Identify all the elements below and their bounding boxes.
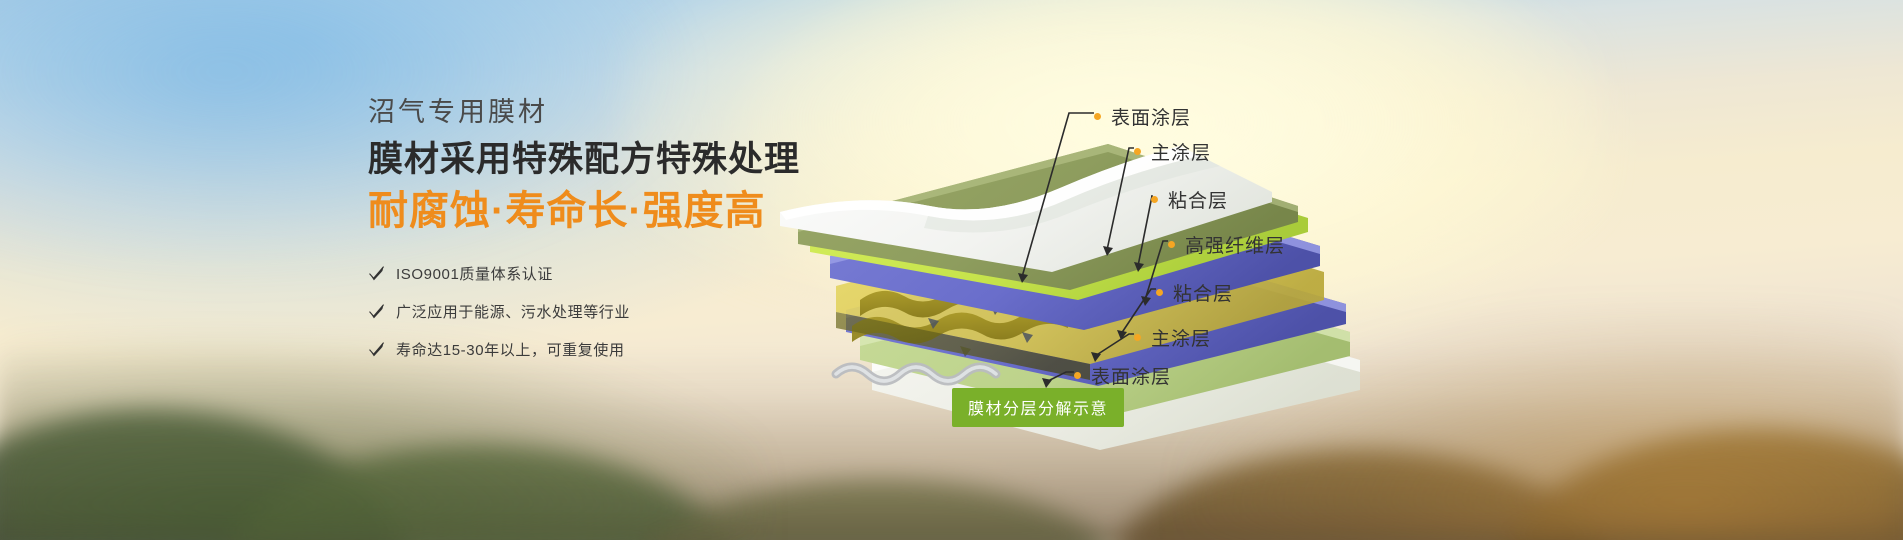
dot-icon — [1134, 148, 1141, 155]
callout-label: 粘合层 — [1173, 279, 1233, 306]
callout-main-coat-top: 主涂层 — [1134, 138, 1211, 165]
callout-fiber-core: 高强纤维层 — [1168, 231, 1285, 258]
dot-icon — [1074, 372, 1081, 379]
callout-label: 表面涂层 — [1111, 103, 1191, 130]
callout-label: 主涂层 — [1151, 138, 1211, 165]
callout-adhesive-bottom: 粘合层 — [1156, 279, 1233, 306]
dot-icon — [1168, 241, 1175, 248]
callout-label-group: 表面涂层 主涂层 粘合层 高强纤维层 粘合层 主涂层 表面涂层 — [1040, 80, 1460, 410]
check-icon — [368, 303, 385, 320]
diagram-caption-badge: 膜材分层分解示意 — [952, 388, 1124, 427]
check-icon — [368, 265, 385, 282]
dot-icon — [1094, 113, 1101, 120]
callout-label: 表面涂层 — [1091, 362, 1171, 389]
callout-surface-coat-bottom: 表面涂层 — [1074, 362, 1171, 389]
list-item-label: 广泛应用于能源、污水处理等行业 — [396, 301, 630, 322]
callout-adhesive-top: 粘合层 — [1151, 186, 1228, 213]
list-item-label: ISO9001质量体系认证 — [396, 263, 553, 284]
callout-surface-coat-top: 表面涂层 — [1094, 103, 1191, 130]
callout-main-coat-bottom: 主涂层 — [1134, 324, 1211, 351]
check-icon — [368, 341, 385, 358]
dot-icon — [1156, 289, 1163, 296]
list-item-label: 寿命达15-30年以上，可重复使用 — [396, 339, 625, 360]
callout-label: 粘合层 — [1168, 186, 1228, 213]
product-banner: 沼气专用膜材 膜材采用特殊配方特殊处理 耐腐蚀·寿命长·强度高 ISO9001质… — [0, 0, 1903, 540]
dot-icon — [1151, 196, 1158, 203]
callout-label: 高强纤维层 — [1185, 231, 1285, 258]
callout-label: 主涂层 — [1151, 324, 1211, 351]
dot-icon — [1134, 334, 1141, 341]
